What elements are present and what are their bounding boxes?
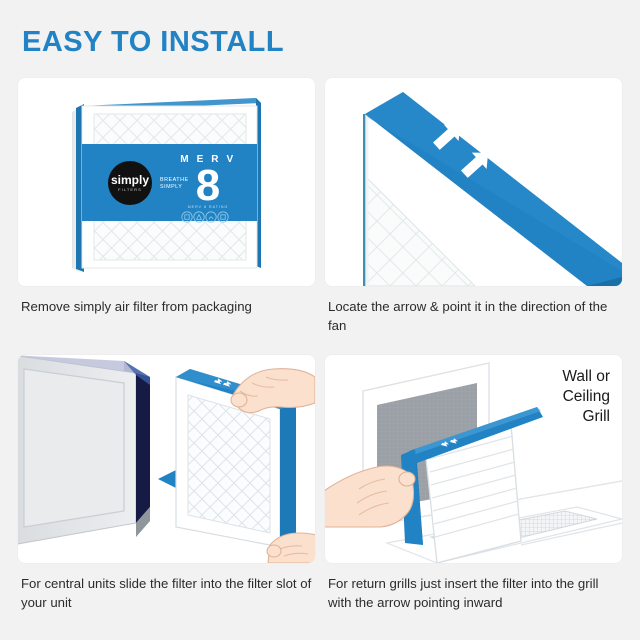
step-4-illustration: Wall or Ceiling Grill — [325, 355, 622, 563]
filter-slot — [136, 373, 150, 523]
hand — [325, 466, 415, 527]
step-2-caption: Locate the arrow & point it in the direc… — [325, 297, 622, 335]
central-unit-recess — [24, 369, 124, 527]
filter-side-band — [280, 401, 296, 547]
brand-sub: FILTERS — [118, 187, 142, 192]
step-3-caption: For central units slide the filter into … — [18, 574, 315, 612]
page-title: EASY TO INSTALL — [22, 26, 284, 59]
step-1: simply FILTERS BREATHE SIMPLY M E R V 8 … — [18, 78, 315, 349]
annotation-line-2: Ceiling — [562, 387, 610, 407]
annotation-line-3: Grill — [562, 407, 610, 427]
tagline-line-1: BREATHE — [160, 177, 189, 183]
step-1-caption: Remove simply air filter from packaging — [18, 297, 315, 316]
steps-grid: simply FILTERS BREATHE SIMPLY M E R V 8 … — [18, 78, 622, 626]
tagline-line-2: SIMPLY — [160, 184, 182, 190]
hand-upper — [231, 369, 315, 413]
filter-in-packaging-graphic: simply FILTERS BREATHE SIMPLY M E R V 8 … — [18, 78, 315, 286]
brand-name: simply — [111, 173, 149, 187]
slide-filter-into-unit-graphic — [18, 355, 315, 563]
step-1-illustration: simply FILTERS BREATHE SIMPLY M E R V 8 … — [18, 78, 315, 286]
step-2: Locate the arrow & point it in the direc… — [325, 78, 622, 349]
wall-or-ceiling-grill-annotation: Wall or Ceiling Grill — [562, 367, 610, 426]
step-4-caption: For return grills just insert the filter… — [325, 574, 622, 612]
filter-edge-airflow-graphic — [325, 78, 622, 286]
step-3: For central units slide the filter into … — [18, 355, 315, 626]
merv-rating-sub: MERV 8 RATING — [188, 205, 229, 209]
merv-rating: 8 — [196, 161, 220, 210]
step-2-illustration — [325, 78, 622, 286]
annotation-line-1: Wall or — [562, 367, 610, 387]
step-3-illustration — [18, 355, 315, 563]
step-4: Wall or Ceiling Grill For return grills … — [325, 355, 622, 626]
